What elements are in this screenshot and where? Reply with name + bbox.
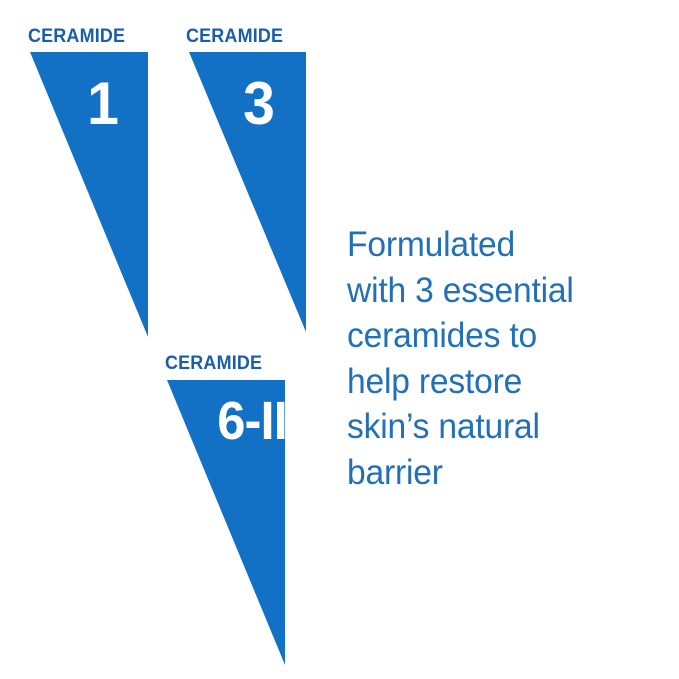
claim-line: skin’s natural <box>347 404 635 450</box>
claim-line: with 3 essential <box>347 268 635 314</box>
claim-line: help restore <box>347 359 635 405</box>
claim-line: barrier <box>347 450 635 496</box>
ceramide-pennant-3-number: 6-II <box>192 394 312 448</box>
ceramide-claim-graphic: CERAMIDE 1 CERAMIDE 3 CERAMIDE 6-II Form… <box>0 0 679 679</box>
claim-line: ceramides to <box>347 313 635 359</box>
ceramide-triangle-2-icon <box>158 0 323 345</box>
ceramide-pennant-3: CERAMIDE 6-II <box>136 328 301 679</box>
ceramide-pennant-1-number: 1 <box>75 74 130 134</box>
claim-text-block: Formulated with 3 essential ceramides to… <box>347 222 647 495</box>
ceramide-pennant-1: CERAMIDE 1 <box>0 0 160 345</box>
ceramide-triangle-1-icon <box>0 0 160 345</box>
ceramide-triangle-3-icon <box>136 328 301 679</box>
ceramide-pennant-2: CERAMIDE 3 <box>158 0 323 345</box>
ceramide-pennant-2-number: 3 <box>231 74 286 134</box>
claim-line: Formulated <box>347 222 635 268</box>
